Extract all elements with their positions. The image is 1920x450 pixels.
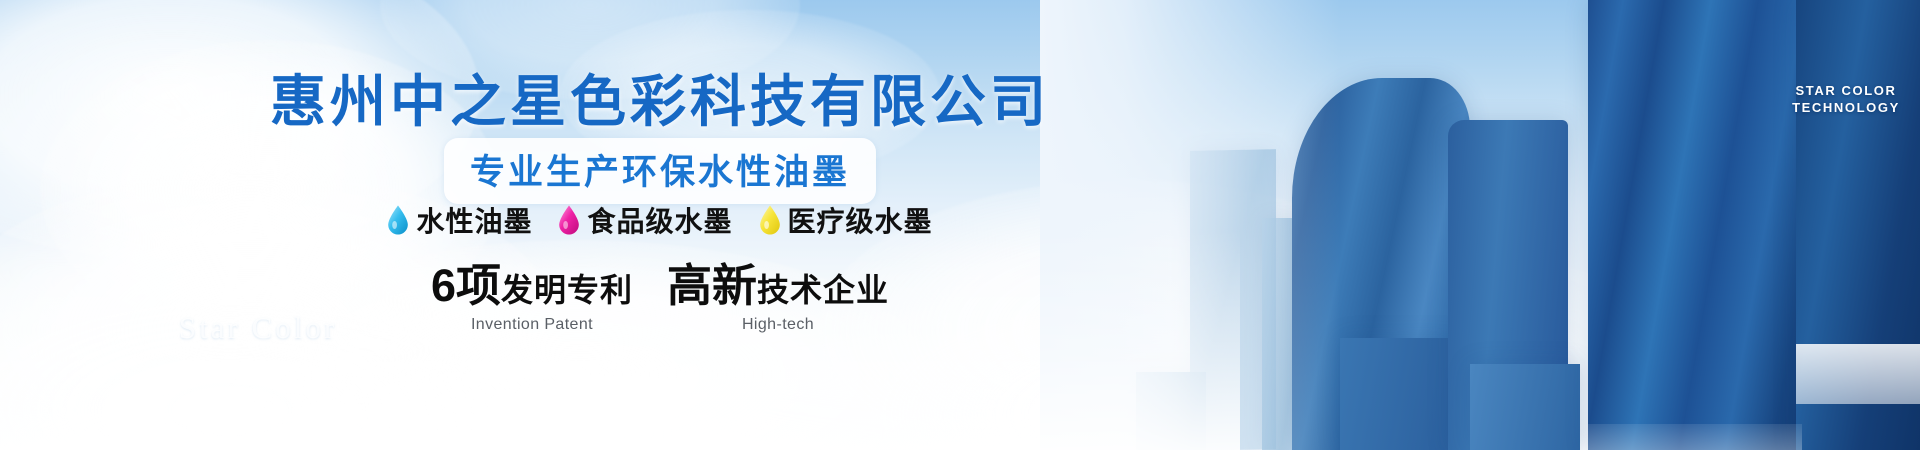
logo-line-2: TECHNOLOGY: [1780, 99, 1912, 116]
feature-label: 医疗级水墨: [788, 200, 933, 240]
building-block: [1340, 338, 1462, 450]
credential-badges: 6项发明专利 Invention Patent 高新技术企业 High-tech: [0, 262, 1320, 334]
badge-rest-text: 发明专利: [501, 272, 633, 308]
badge-english-text: Invention Patent: [431, 316, 633, 334]
badge-high-tech: 高新技术企业 High-tech: [667, 262, 889, 334]
droplet-icon: [558, 205, 580, 235]
star-color-technology-logo: STAR COLOR TECHNOLOGY: [1780, 82, 1912, 116]
droplet-icon: [387, 205, 409, 235]
company-hero-banner: Star Color STAR COLOR TECHNOLOGY 惠州中之星色彩…: [0, 0, 1920, 450]
badge-main-text: 6项发明专利: [431, 262, 633, 310]
product-feature-list: 水性油墨 食品级水墨: [0, 200, 1320, 240]
badge-invention-patent: 6项发明专利 Invention Patent: [431, 262, 633, 334]
building-parapet: [1796, 344, 1920, 404]
feature-label: 食品级水墨: [587, 200, 732, 240]
badge-strong-text: 6项: [431, 260, 501, 311]
badge-strong-text: 高新: [667, 260, 757, 311]
logo-line-1: STAR COLOR: [1780, 82, 1912, 99]
building-logo-tower: [1588, 0, 1802, 450]
feature-item: 食品级水墨: [558, 200, 732, 240]
feature-item: 水性油墨: [387, 200, 532, 240]
badge-main-text: 高新技术企业: [667, 262, 889, 310]
feature-item: 医疗级水墨: [759, 200, 933, 240]
subtitle-pill: 专业生产环保水性油墨: [444, 138, 876, 204]
droplet-icon: [759, 205, 781, 235]
badge-rest-text: 技术企业: [757, 272, 889, 308]
feature-label: 水性油墨: [416, 200, 532, 240]
badge-english-text: High-tech: [667, 316, 889, 334]
company-name-headline: 惠州中之星色彩科技有限公司: [0, 57, 1320, 138]
hero-content: 惠州中之星色彩科技有限公司 专业生产环保水性油墨 水性油墨: [0, 0, 1320, 450]
building-block: [1470, 364, 1580, 450]
building-parapet: [1588, 424, 1802, 450]
